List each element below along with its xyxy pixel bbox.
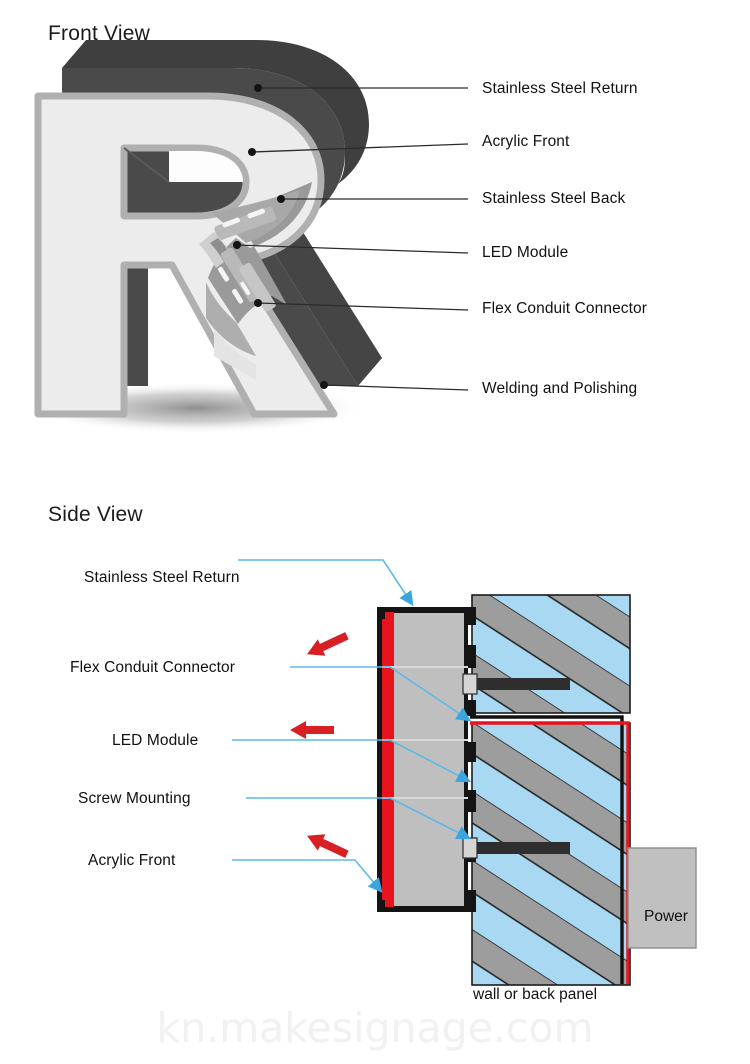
arrow-top xyxy=(303,628,350,663)
diagram-canvas: Front View Side View Stainless Steel Ret… xyxy=(0,0,750,1064)
power-supply-label: Power xyxy=(644,908,688,926)
wall-panel-upper xyxy=(472,595,630,713)
front-label-stainless-steel-back: Stainless Steel Back xyxy=(482,191,625,207)
side-view-title: Side View xyxy=(48,503,143,527)
site-watermark: kn.makesignage.com xyxy=(0,1004,750,1052)
arrow-middle xyxy=(290,721,334,739)
front-label-acrylic-front: Acrylic Front xyxy=(482,134,569,150)
letter-r-3d xyxy=(38,40,382,414)
dot-led-module xyxy=(233,241,241,249)
leader-side-stainless-steel-return xyxy=(238,560,412,604)
leader-side-acrylic-front xyxy=(232,860,381,891)
dot-acrylic-front xyxy=(248,148,256,156)
acrylic-top-lip xyxy=(377,607,385,619)
wall-panel-caption: wall or back panel xyxy=(473,986,597,1004)
dot-welding-and-polishing xyxy=(320,381,328,389)
arrow-bottom xyxy=(303,828,350,863)
dot-stainless-steel-back xyxy=(277,195,285,203)
front-label-flex-conduit-connector: Flex Conduit Connector xyxy=(482,301,647,317)
power-supply-box xyxy=(628,848,696,948)
side-view-graphic xyxy=(290,595,696,985)
front-label-welding-and-polishing: Welding and Polishing xyxy=(482,381,637,397)
side-label-acrylic-front: Acrylic Front xyxy=(88,853,175,869)
side-label-led-module: LED Module xyxy=(112,733,198,749)
leader-welding-and-polishing xyxy=(324,385,468,390)
front-view-graphic xyxy=(0,0,750,1064)
front-label-led-module: LED Module xyxy=(482,245,568,261)
side-label-stainless-steel-return: Stainless Steel Return xyxy=(84,570,240,586)
dot-stainless-steel-return xyxy=(254,84,262,92)
side-label-screw-mounting: Screw Mounting xyxy=(78,791,191,807)
dot-flex-conduit-connector xyxy=(254,299,262,307)
front-label-stainless-steel-return: Stainless Steel Return xyxy=(482,81,638,97)
acrylic-front-strip xyxy=(382,612,394,907)
acrylic-bottom-lip xyxy=(377,900,385,912)
front-view-title: Front View xyxy=(48,22,150,46)
side-label-flex-conduit-connector: Flex Conduit Connector xyxy=(70,660,235,676)
